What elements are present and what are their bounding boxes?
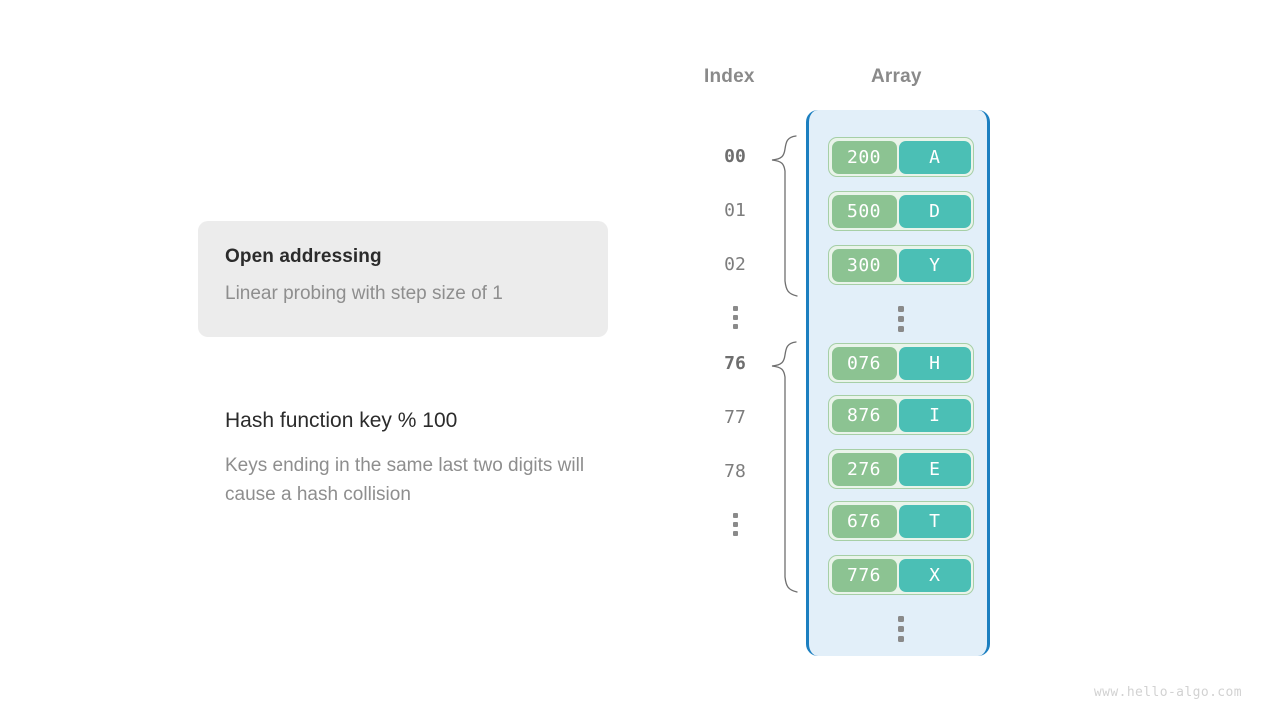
index-label-01: 01 [700, 201, 770, 221]
array-cell[interactable]: 076 H [828, 343, 974, 383]
array-ellipsis-top [809, 306, 993, 332]
column-header-array: Array [871, 66, 922, 88]
index-column: 00 01 02 76 77 78 [700, 105, 770, 665]
cell-value: X [899, 559, 971, 592]
cell-value: A [899, 141, 971, 174]
cell-key: 300 [832, 249, 897, 282]
cell-key: 276 [832, 453, 897, 486]
index-label-00: 00 [700, 147, 770, 167]
index-label-77: 77 [700, 408, 770, 428]
cell-key: 776 [832, 559, 897, 592]
hash-function-block: Hash function key % 100 Keys ending in t… [225, 407, 605, 509]
hash-function-subtitle: Keys ending in the same last two digits … [225, 451, 605, 509]
cell-key: 076 [832, 347, 897, 380]
cell-key: 876 [832, 399, 897, 432]
cell-value: D [899, 195, 971, 228]
open-addressing-subtitle: Linear probing with step size of 1 [225, 282, 608, 306]
cell-value: E [899, 453, 971, 486]
array-cell[interactable]: 676 T [828, 501, 974, 541]
cell-key: 500 [832, 195, 897, 228]
array-cell[interactable]: 276 E [828, 449, 974, 489]
array-cell[interactable]: 500 D [828, 191, 974, 231]
cell-value: I [899, 399, 971, 432]
array-container: 200 A 500 D 300 Y 076 H 876 I 276 E 676 … [806, 110, 990, 656]
index-label-76: 76 [700, 354, 770, 374]
cell-key: 676 [832, 505, 897, 538]
open-addressing-title: Open addressing [225, 245, 608, 269]
index-brace-top [766, 133, 800, 299]
cell-value: H [899, 347, 971, 380]
array-cell[interactable]: 200 A [828, 137, 974, 177]
array-cell[interactable]: 300 Y [828, 245, 974, 285]
watermark: www.hello-algo.com [1094, 685, 1242, 700]
hash-function-title: Hash function key % 100 [225, 407, 605, 435]
index-brace-bottom [766, 339, 800, 595]
array-cell[interactable]: 776 X [828, 555, 974, 595]
index-ellipsis-bottom [700, 513, 770, 536]
column-header-index: Index [704, 66, 755, 88]
index-label-02: 02 [700, 255, 770, 275]
array-ellipsis-bottom [809, 616, 993, 642]
cell-value: T [899, 505, 971, 538]
cell-key: 200 [832, 141, 897, 174]
array-cell[interactable]: 876 I [828, 395, 974, 435]
cell-value: Y [899, 249, 971, 282]
index-ellipsis-top [700, 306, 770, 329]
index-label-78: 78 [700, 462, 770, 482]
open-addressing-card: Open addressing Linear probing with step… [198, 221, 608, 337]
